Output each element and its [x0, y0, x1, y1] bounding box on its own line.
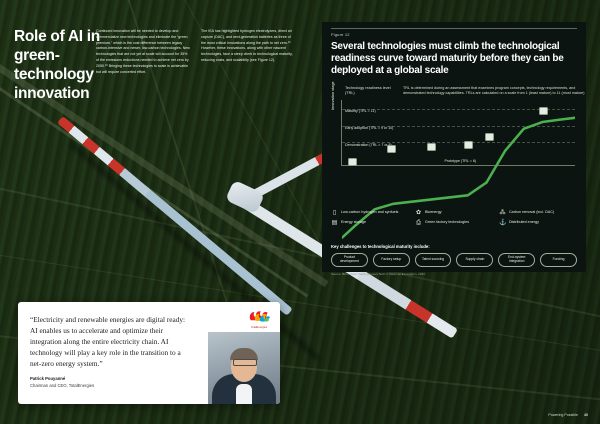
legend-label: Distributed energy [509, 220, 539, 225]
curve-marker [427, 143, 436, 151]
quote-attribution: Patrick Pouyanné Chairman and CEO, Total… [30, 376, 94, 388]
legend-label: Energy storage [341, 220, 366, 225]
body-columns: Continued innovation will be needed to d… [96, 29, 296, 76]
challenge-pill[interactable]: Factory setup [373, 253, 410, 267]
carbon-removal-icon: ⁂ [499, 210, 506, 217]
quote-author-name: Patrick Pouyanné [30, 376, 94, 381]
trl-definition-note: TRL is determined during an assessment t… [403, 86, 588, 97]
factory-icon: ⎙ [415, 220, 422, 227]
page-number: 40 [584, 413, 588, 417]
legend-item: ⚓Distributed energy [499, 220, 577, 227]
battery-icon: ▯ [331, 210, 338, 217]
legend-label: Low-carbon hydrogen and synfuels [341, 210, 398, 215]
quote-card: “Electricity and renewable energies are … [18, 302, 280, 404]
quote-text: “Electricity and renewable energies are … [30, 314, 190, 369]
glasses-icon [233, 359, 257, 366]
body-paragraph: Continued innovation will be needed to d… [96, 29, 191, 76]
leaf-icon: ✿ [415, 210, 422, 217]
challenge-pill[interactable]: End-system integration [498, 253, 535, 267]
curve-marker [464, 141, 473, 149]
energy-storage-icon: ▤ [331, 220, 338, 227]
legend-item: ✿Bioenergy [415, 210, 493, 217]
legend-item: ▤Energy storage [331, 220, 409, 227]
challenge-pill[interactable]: Supply chain [456, 253, 493, 267]
chart-axis-title: Technology readiness level (TRL) [345, 86, 391, 96]
page-title: Role of AI in green-technology innovatio… [14, 28, 109, 104]
legend-item: ⁂Carbon removal (incl. DAC) [499, 210, 577, 217]
challenge-pill[interactable]: Product development [331, 253, 368, 267]
footer-text: Powering Possible [548, 413, 578, 417]
body-column: Continued innovation will be needed to d… [96, 29, 191, 76]
challenge-pill[interactable]: Funding [540, 253, 577, 267]
page-root: Role of AI in green-technology innovatio… [0, 0, 600, 424]
curve-marker [387, 145, 396, 153]
figure-source: Source: BCG, Fast-Tracking Green Tech: I… [331, 272, 426, 276]
curve-marker [485, 133, 494, 141]
figure-label: Figure 12 [331, 32, 577, 37]
distributed-energy-icon: ⚓ [499, 220, 506, 227]
legend-label: Carbon removal (incl. DAC) [509, 210, 554, 215]
challenge-pill-row: Product developmentFactory setupTalent s… [331, 253, 577, 267]
portrait-shirt [236, 384, 252, 404]
quote-author-role: Chairman and CEO, TotalEnergies [30, 383, 94, 388]
avatar [208, 332, 280, 404]
y-axis-label: Innovation stage [331, 81, 335, 110]
panel-divider [331, 28, 577, 29]
legend-label: Bioenergy [425, 210, 442, 215]
challenges-title: Key challenges to technological maturity… [331, 244, 430, 249]
legend-label: Green factory technologies [425, 220, 469, 225]
chart-plot-area: Maturity (TRL = 11) Early adoption (TRL … [341, 100, 575, 166]
totalenergies-logo: TotalEnergies [246, 309, 272, 329]
totalenergies-mark [247, 309, 272, 324]
legend-item: ⎙Green factory technologies [415, 220, 493, 227]
figure-title: Several technologies must climb the tech… [331, 41, 577, 78]
chart-legend: ▯Low-carbon hydrogen and synfuels✿Bioene… [331, 210, 577, 227]
curve-marker [348, 158, 357, 166]
challenge-pill[interactable]: Talent sourcing [415, 253, 452, 267]
figure-panel: Figure 12 Several technologies must clim… [322, 22, 586, 272]
totalenergies-wordmark: TotalEnergies [246, 325, 272, 329]
body-column: The IEA has highlighted hydrogen electro… [201, 29, 296, 76]
body-paragraph: The IEA has highlighted hydrogen electro… [201, 29, 296, 64]
readiness-chart: Technology readiness level (TRL) TRL is … [331, 86, 577, 172]
curve-marker [539, 107, 548, 115]
legend-item: ▯Low-carbon hydrogen and synfuels [331, 210, 409, 217]
page-footer: Powering Possible 40 [548, 413, 588, 417]
